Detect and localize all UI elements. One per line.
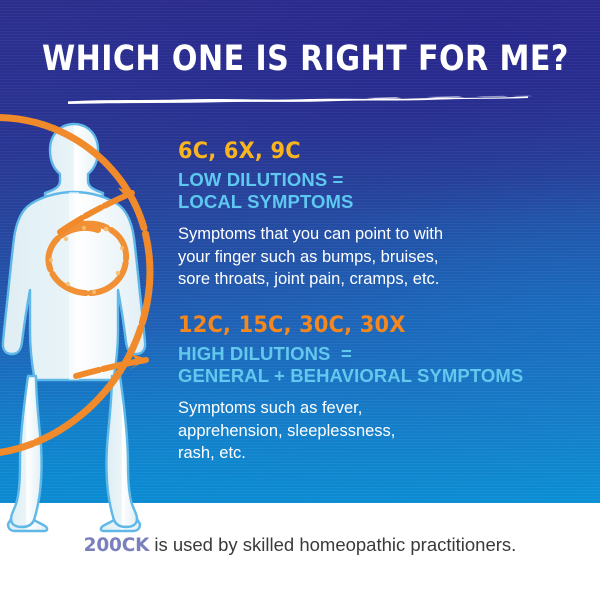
potency-list-high: 12C, 15C, 30C, 30X (178, 314, 506, 337)
footer-potency-label: 200CK (84, 535, 150, 556)
potency-list-low: 6C, 6X, 9C (178, 140, 430, 163)
footer-note-text: is used by skilled homeopathic practitio… (149, 534, 516, 555)
torn-paint-edge-icon (0, 568, 600, 600)
high-dilutions-block: 12C, 15C, 30C, 30X HIGH DILUTIONS = GENE… (178, 314, 523, 464)
page-title: WHICH ONE IS RIGHT FOR ME? (42, 42, 558, 77)
subheading-low: LOW DILUTIONS = LOCAL SYMPTOMS (178, 169, 443, 212)
description-low: Symptoms that you can point to with your… (178, 223, 443, 290)
low-dilutions-block: 6C, 6X, 9C LOW DILUTIONS = LOCAL SYMPTOM… (178, 140, 443, 290)
footer-note: 200CK is used by skilled homeopathic pra… (0, 534, 600, 556)
subheading-high: HIGH DILUTIONS = GENERAL + BEHAVIORAL SY… (178, 343, 523, 386)
description-high: Symptoms such as fever, apprehension, sl… (178, 397, 523, 464)
infographic-poster: WHICH ONE IS RIGHT FOR ME? (0, 0, 600, 600)
